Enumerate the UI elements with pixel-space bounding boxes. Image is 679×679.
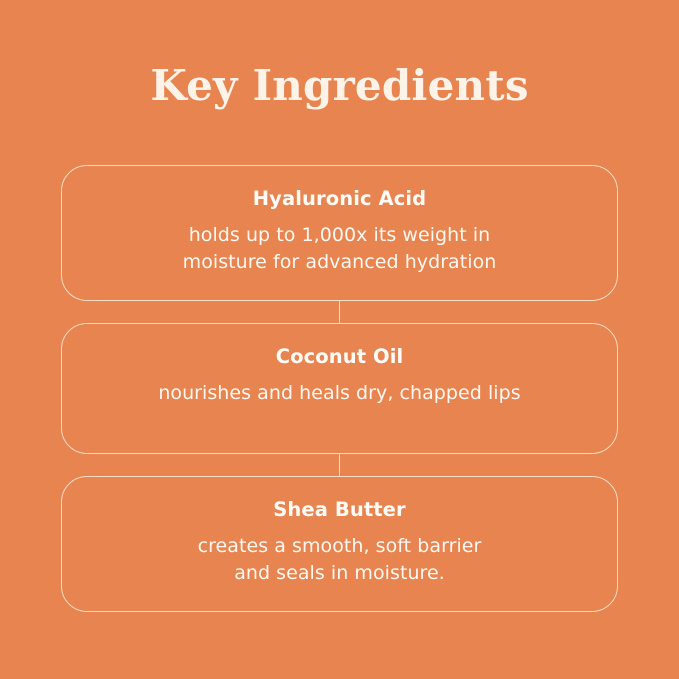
- ingredient-card-title: Coconut Oil: [90, 344, 589, 370]
- connector-line-1: [339, 300, 340, 324]
- ingredient-card-coconut-oil: Coconut Oil nourishes and heals dry, cha…: [61, 323, 618, 454]
- ingredient-card-title: Hyaluronic Acid: [90, 186, 589, 212]
- ingredient-card-description: holds up to 1,000x its weight in moistur…: [90, 222, 589, 276]
- key-ingredients-infographic: Key Ingredients Hyaluronic Acid holds up…: [0, 0, 679, 679]
- ingredient-card-list: Hyaluronic Acid holds up to 1,000x its w…: [61, 165, 618, 612]
- ingredient-card-hyaluronic-acid: Hyaluronic Acid holds up to 1,000x its w…: [61, 165, 618, 301]
- ingredient-card-description: creates a smooth, soft barrier and seals…: [90, 533, 589, 587]
- page-title: Key Ingredients: [0, 58, 679, 114]
- ingredient-card-shea-butter: Shea Butter creates a smooth, soft barri…: [61, 476, 618, 612]
- ingredient-card-title: Shea Butter: [90, 497, 589, 523]
- connector-line-2: [339, 453, 340, 477]
- ingredient-card-description: nourishes and heals dry, chapped lips: [90, 380, 589, 407]
